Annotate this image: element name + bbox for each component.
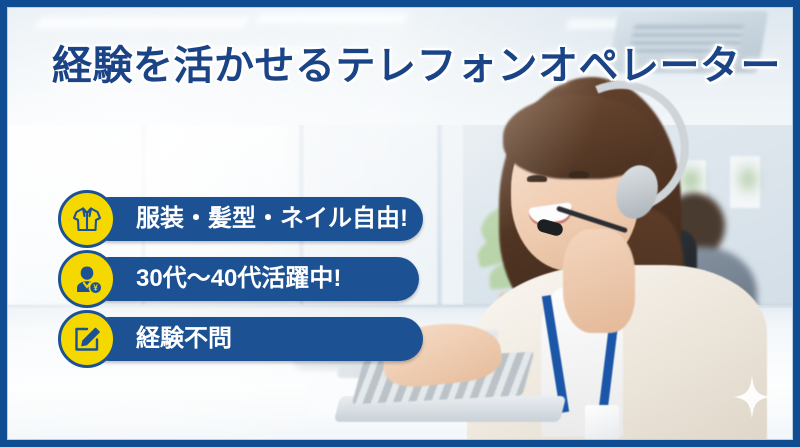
ceiling-light-1	[34, 17, 251, 29]
pencil-edit-icon	[58, 310, 116, 368]
badge-bar: 経験不問	[87, 317, 423, 361]
hand-holding-mic	[563, 229, 635, 333]
job-ad-banner: 経験を活かせるテレフォンオペレーター 服装・髪型・ネイル自由! 30代〜40代活…	[0, 0, 800, 447]
eye-left	[527, 175, 547, 182]
sparkle-star-icon	[734, 375, 770, 419]
badge-bar: 30代〜40代活躍中!	[87, 257, 419, 301]
svg-text:¥: ¥	[93, 284, 98, 293]
badge-label: 服装・髪型・ネイル自由!	[87, 207, 408, 231]
feature-badge-dress-code[interactable]: 服装・髪型・ネイル自由!	[58, 190, 116, 248]
id-badge-card	[585, 405, 619, 440]
clothing-shirt-icon	[58, 190, 116, 248]
badge-bar: 服装・髪型・ネイル自由!	[87, 197, 423, 241]
feature-badge-age-range[interactable]: 30代〜40代活躍中! ¥	[58, 250, 116, 308]
feature-badge-list: 服装・髪型・ネイル自由! 30代〜40代活躍中!	[58, 190, 116, 368]
feature-badge-no-experience[interactable]: 経験不問	[58, 310, 116, 368]
operator-person-yen-icon: ¥	[58, 250, 116, 308]
badge-label: 30代〜40代活躍中!	[87, 267, 341, 291]
ceiling-light-2	[255, 13, 410, 24]
page-title: 経験を活かせるテレフォンオペレーター	[52, 33, 781, 91]
